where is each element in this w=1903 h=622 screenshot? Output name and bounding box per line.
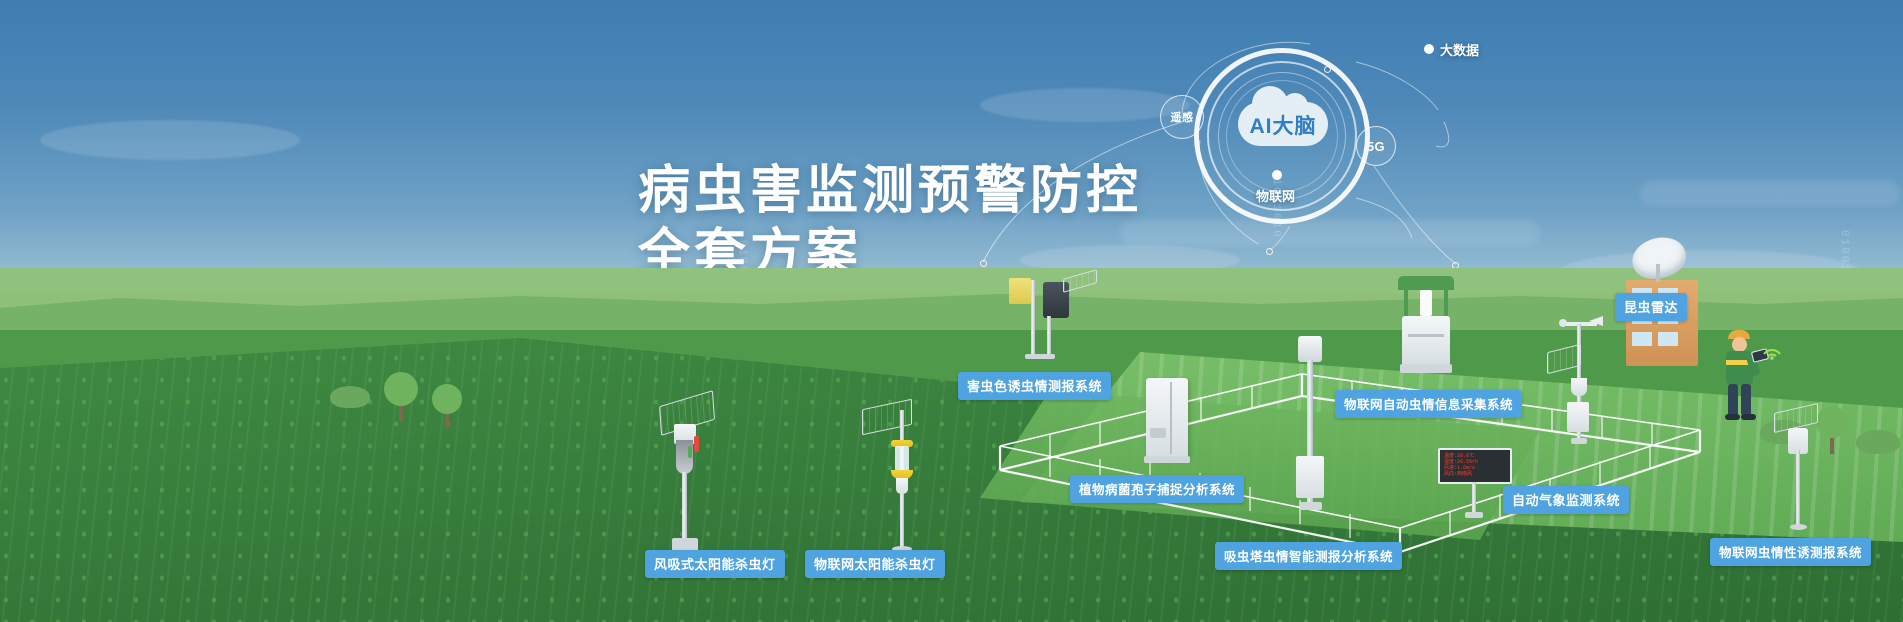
cloud-2	[980, 88, 1190, 122]
hub-node-iot-label: 物联网	[1256, 186, 1295, 205]
hub-endpoint-dot-4	[1324, 66, 1331, 73]
worker-leg-l	[1728, 384, 1738, 416]
device-iot-solar-lamp[interactable]	[862, 400, 932, 558]
hub-node-big-data-label: 大数据	[1440, 40, 1479, 59]
solar-panel-3	[1063, 269, 1097, 293]
hub-node-5g[interactable]: 5G	[1356, 126, 1396, 166]
label-iot-pheromone[interactable]: 物联网虫情性诱测报系统	[1710, 538, 1871, 566]
lure-pole-2	[1047, 316, 1051, 356]
spore-cabinet-seam	[1170, 382, 1172, 454]
label-auto-weather[interactable]: 自动气象监测系统	[1503, 486, 1629, 514]
pest-collect-frame-l	[1404, 288, 1408, 318]
device-auto-weather-station[interactable]	[1545, 322, 1615, 472]
hub-node-big-data-dot	[1424, 44, 1434, 54]
lamp-collector-2	[896, 478, 908, 494]
pest-collect-body	[1402, 316, 1450, 366]
label-spore-capture[interactable]: 植物病菌孢子捕捉分析系统	[1070, 475, 1244, 503]
device-spore-capture[interactable]	[1140, 378, 1200, 478]
hub-node-5g-label: 5G	[1367, 139, 1385, 154]
solar-panel-2	[862, 399, 912, 436]
ai-brain-label: AI大脑	[1238, 108, 1328, 142]
weather-cup-1	[1559, 319, 1567, 327]
ai-hub-diagram: AI大脑 遥感 5G 大数据 物联网	[1160, 30, 1580, 280]
radar-window-6	[1658, 332, 1678, 346]
device-iot-auto-pest-collect[interactable]	[1388, 276, 1468, 396]
device-color-lure-forecast[interactable]	[985, 268, 1095, 360]
pest-collect-frame-r	[1444, 288, 1448, 318]
label-insect-radar[interactable]: 昆虫雷达	[1615, 293, 1687, 321]
suction-tower-cabinet	[1296, 456, 1324, 498]
cloud-band-2	[1640, 180, 1900, 206]
device-wind-suction-solar-lamp[interactable]	[650, 398, 730, 558]
label-suction-tower[interactable]: 吸虫塔虫情智能测报分析系统	[1215, 542, 1402, 570]
label-wind-suction-solar-lamp[interactable]: 风吸式太阳能杀虫灯	[645, 550, 785, 578]
lamp-indicator-green	[688, 446, 692, 458]
worker-shoe-r	[1741, 414, 1756, 420]
suction-tower-head	[1298, 336, 1322, 362]
weather-sensor-shield	[1571, 378, 1587, 396]
pest-collect-base	[1400, 364, 1452, 373]
worker-leg-r	[1741, 384, 1751, 416]
hub-node-iot-dot	[1272, 170, 1282, 180]
lure-pole	[1031, 280, 1035, 356]
worker-shoe-l	[1725, 414, 1740, 420]
led-board-base	[1465, 512, 1483, 518]
pest-collect-lamp	[1420, 290, 1432, 316]
field-worker	[1712, 330, 1772, 422]
wifi-signal-icon	[1760, 338, 1786, 360]
worker-head	[1732, 337, 1747, 352]
bush-3	[1856, 430, 1900, 454]
suction-tower-base	[1300, 502, 1322, 510]
label-color-lure-forecast[interactable]: 害虫色诱虫情测报系统	[958, 372, 1111, 400]
lamp-indicator-red	[694, 436, 699, 452]
led-board-pole	[1472, 482, 1476, 514]
pheromone-base	[1790, 524, 1807, 530]
spore-cabinet	[1146, 378, 1188, 458]
led-screen: 温度:28.6℃ 湿度:26.5%rh 风速:1.6m/s 风向:西南风	[1438, 448, 1512, 484]
cloud-1	[40, 120, 300, 160]
device-iot-pheromone[interactable]	[1770, 408, 1840, 538]
label-iot-auto-pest-collect[interactable]: 物联网自动虫情信息采集系统	[1335, 390, 1522, 418]
pheromone-pole	[1796, 450, 1800, 526]
hero-banner: 010010011010 0100101 01001010 0100101101…	[0, 0, 1903, 622]
hub-node-remote-sensing[interactable]: 遥感	[1160, 95, 1204, 139]
device-suction-tower[interactable]	[1286, 336, 1336, 536]
weather-solar-panel	[1547, 344, 1581, 374]
radar-dish-feed	[1656, 264, 1660, 282]
lamp-glass-2	[895, 446, 909, 472]
hub-endpoint-dot-2	[1266, 248, 1273, 255]
pest-collect-panel-line	[1408, 334, 1444, 337]
weather-cabinet	[1567, 402, 1589, 432]
spore-vent	[1150, 428, 1166, 438]
lamp-pole-1	[682, 472, 687, 542]
bush-1	[330, 386, 370, 408]
hub-node-remote-sensing-label: 遥感	[1171, 109, 1194, 125]
spore-base	[1144, 456, 1190, 463]
label-iot-solar-lamp[interactable]: 物联网太阳能杀虫灯	[805, 550, 945, 578]
weather-base	[1571, 438, 1587, 444]
tree-canopy-2	[432, 384, 462, 414]
lure-trap-yellow	[1009, 278, 1031, 304]
radar-window-5	[1632, 332, 1652, 346]
tree-canopy-1	[384, 372, 418, 406]
led-line-4: 风向:西南风	[1444, 471, 1506, 477]
lure-base	[1025, 354, 1055, 359]
title-line-1: 病虫害监测预警防控	[638, 160, 1142, 223]
hub-endpoint-dot-1	[980, 260, 987, 267]
